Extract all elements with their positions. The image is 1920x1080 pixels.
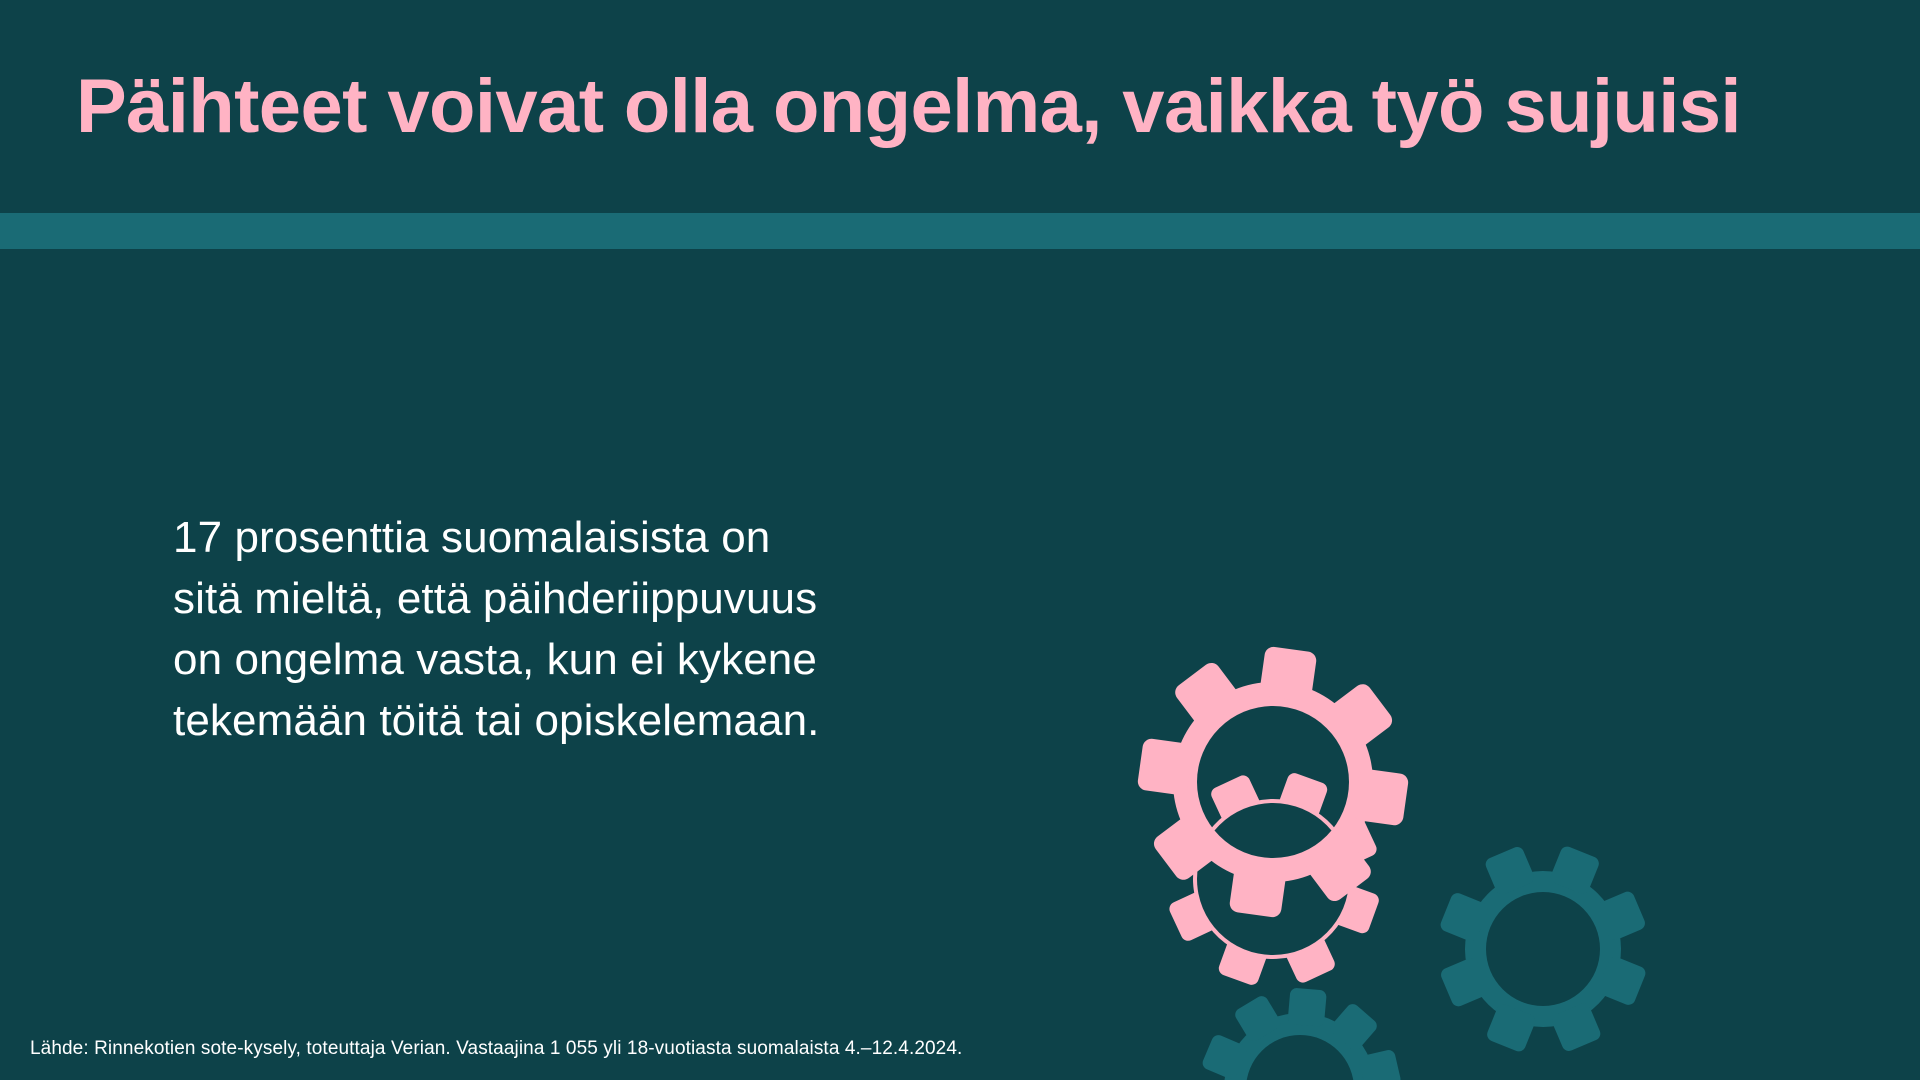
source-note: Lähde: Rinnekotien sote-kysely, toteutta… <box>30 1038 962 1060</box>
stat-line: tekemään töitä tai opiskelemaan. <box>173 690 933 751</box>
gear-large-pink-upper-icon <box>1122 631 1425 934</box>
stat-line: 17 prosenttia suomalaisista on <box>173 507 933 568</box>
page-title: Päihteet voivat olla ongelma, vaikka työ… <box>0 67 1920 147</box>
gears-illustration <box>1060 569 1700 1080</box>
stat-text-block: 17 prosenttia suomalaisista on sitä miel… <box>173 507 933 751</box>
stat-line: sitä mieltä, että päihderiippuvuus <box>173 568 933 629</box>
main-content: 17 prosenttia suomalaisista on sitä miel… <box>0 249 1920 1020</box>
header-band: Päihteet voivat olla ongelma, vaikka työ… <box>0 0 1920 213</box>
stat-line: on ongelma vasta, kun ei kykene <box>173 629 933 690</box>
footer-band: Lähde: Rinnekotien sote-kysely, toteutta… <box>0 1020 1920 1080</box>
accent-rule-divider <box>0 213 1920 249</box>
slide-root: Päihteet voivat olla ongelma, vaikka työ… <box>0 0 1920 1080</box>
